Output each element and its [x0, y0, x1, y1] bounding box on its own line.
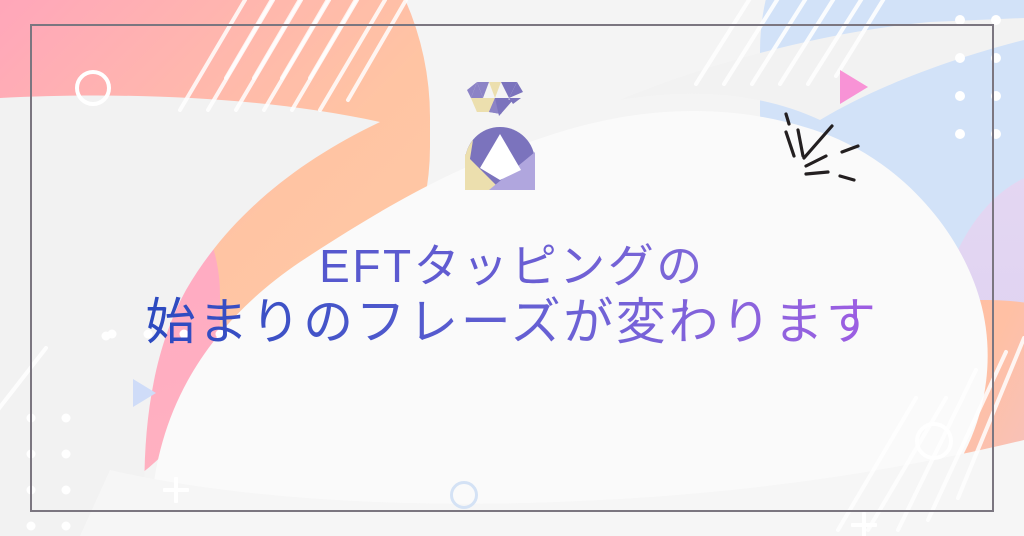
logo-arch-body	[465, 127, 535, 190]
ring-blue-bottom	[450, 481, 478, 509]
plus-bottom-right	[851, 512, 877, 536]
ring-white-upper-left	[75, 70, 111, 106]
logo-gem-top	[467, 82, 523, 116]
banner: EFTタッピングの 始まりのフレーズが変わります	[0, 0, 1024, 536]
triangle-pink	[840, 70, 868, 104]
ring-white-lower-right	[915, 422, 953, 460]
page-title: EFTタッピングの 始まりのフレーズが変わります	[0, 239, 1024, 352]
plus-bottom-left	[163, 477, 189, 503]
triangle-light-blue	[133, 379, 156, 407]
headline-line-1: EFTタッピングの	[0, 239, 1024, 293]
gem-arch-logo	[455, 68, 545, 190]
headline-line-2: 始まりのフレーズが変わります	[0, 293, 1024, 352]
